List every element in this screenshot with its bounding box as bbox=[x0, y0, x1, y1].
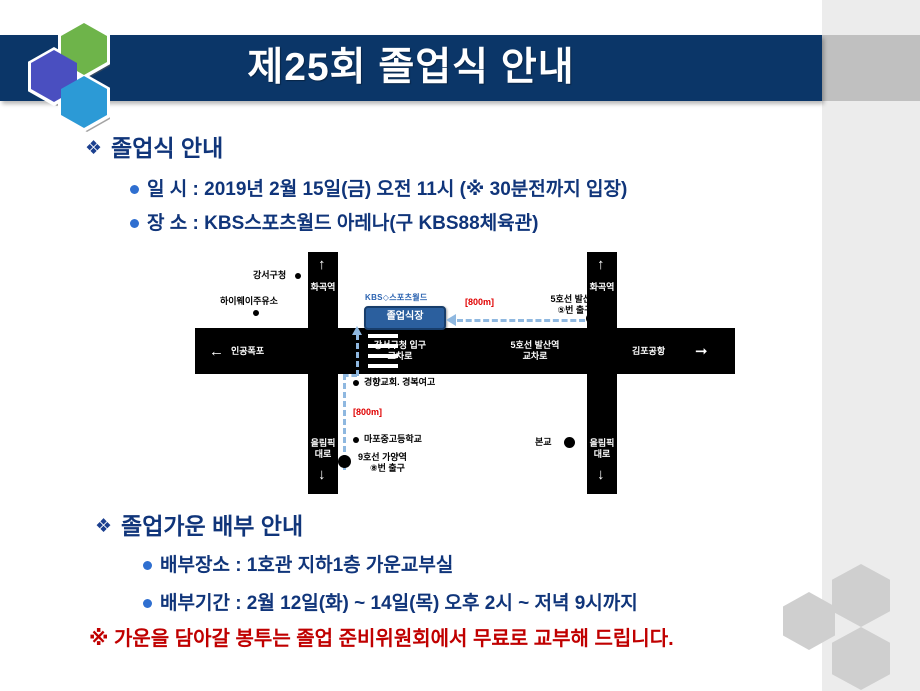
section2-note: ※ 가운을 담아갈 봉투는 졸업 준비위원회에서 무료로 교부해 드립니다. bbox=[89, 622, 674, 651]
arrow-left-road-icon: ← bbox=[209, 344, 224, 359]
section1-item-1-label: 장 소 : KBS스포츠월드 아레나(구 KBS88체육관) bbox=[147, 213, 538, 234]
path-crosswalk-vertical bbox=[356, 334, 359, 376]
path-gayang-horizontal bbox=[343, 374, 357, 377]
dot-bullet-icon bbox=[143, 561, 152, 570]
venue-caption: KBS◇스포츠월드 bbox=[365, 292, 428, 303]
poi-dot-highway-gas bbox=[253, 310, 259, 316]
poi-dot-balsan-station bbox=[586, 313, 597, 324]
path-arrow-left-icon bbox=[446, 314, 456, 326]
venue-box-graduation-hall: 졸업식장 bbox=[364, 306, 446, 330]
section2-item-0: 배부장소 : 1호관 지하1층 가운교부실 bbox=[143, 550, 453, 577]
section2-item-1: 배부기간 : 2월 12일(화) ~ 14일(목) 오후 2시 ~ 저녁 9시까… bbox=[143, 588, 638, 615]
poi-dot-mapo-school bbox=[353, 437, 359, 443]
right-decoration-panel-accent bbox=[822, 35, 920, 101]
section2-heading: ❖졸업가운 배부 안내 bbox=[95, 507, 303, 541]
poi-dot-gyeonghyang bbox=[353, 380, 359, 386]
arrow-up-left-road-icon: ↑ bbox=[318, 257, 326, 272]
poi-label-mapo-school: 마포중고등학교 bbox=[364, 434, 422, 445]
section1-heading-label: 졸업식 안내 bbox=[111, 135, 223, 161]
brand-logo bbox=[14, 22, 124, 112]
distance-label-balsan: [800m] bbox=[465, 297, 494, 307]
diamond-bullet-icon: ❖ bbox=[95, 515, 112, 538]
crosswalk-stripe bbox=[368, 354, 398, 358]
poi-label-highway-gas: 하이웨이주유소 bbox=[220, 296, 278, 307]
poi-dot-main-campus bbox=[564, 437, 575, 448]
dot-bullet-icon bbox=[130, 219, 139, 228]
crosswalk-stripe bbox=[368, 344, 398, 348]
section1-item-0-label: 일 시 : 2019년 2월 15일(금) 오전 11시 (※ 30분전까지 입… bbox=[147, 179, 627, 200]
road-label-olympic-left: 올림픽대로 bbox=[308, 438, 338, 460]
section1-heading: ❖졸업식 안내 bbox=[85, 129, 223, 163]
crosswalk-stripe bbox=[368, 364, 398, 368]
dot-bullet-icon bbox=[130, 185, 139, 194]
road-label-balsan-intersection: 5호선 발산역교차로 bbox=[485, 340, 585, 362]
poi-label-gyeonghyang: 경향교회. 경복여고 bbox=[364, 377, 435, 388]
crosswalk-stripe bbox=[368, 334, 398, 338]
path-arrow-up-icon bbox=[352, 326, 362, 335]
poi-label-gayang-station: 9호선 가양역⑧번 출구 bbox=[358, 452, 468, 474]
path-balsan-to-venue bbox=[457, 319, 585, 322]
poi-label-balsan-station: 5호선 발산역⑤번 출구 bbox=[520, 294, 630, 316]
section2-item-1-label: 배부기간 : 2월 12일(화) ~ 14일(목) 오후 2시 ~ 저녁 9시까… bbox=[160, 593, 638, 614]
poi-dot-gayang-station bbox=[338, 455, 351, 468]
arrow-up-right-road-icon: ↑ bbox=[597, 257, 605, 272]
poi-label-main-campus: 본교 bbox=[535, 437, 552, 448]
distance-label-gayang: [800m] bbox=[353, 407, 382, 417]
poi-label-gangseo-gucheong: 강서구청 bbox=[253, 270, 286, 281]
arrow-down-left-road-icon: ↓ bbox=[318, 467, 326, 482]
section1-item-1: 장 소 : KBS스포츠월드 아레나(구 KBS88체육관) bbox=[130, 208, 538, 235]
section2-heading-label: 졸업가운 배부 안내 bbox=[121, 513, 303, 539]
diamond-bullet-icon: ❖ bbox=[85, 137, 102, 160]
poi-dot-gangseo-gucheong bbox=[295, 273, 301, 279]
location-map: ↑ ↑ ↓ ↓ ← ➞ 화곡역 화곡역 올림픽대로 올림픽대로 인공폭포 강서구… bbox=[195, 252, 735, 494]
arrow-right-road-icon: ➞ bbox=[695, 344, 708, 359]
dot-bullet-icon bbox=[143, 599, 152, 608]
section1-item-0: 일 시 : 2019년 2월 15일(금) 오전 11시 (※ 30분전까지 입… bbox=[130, 174, 627, 201]
road-label-hwagok-right: 화곡역 bbox=[587, 282, 617, 293]
road-label-ingongpokpo: 인공폭포 bbox=[231, 346, 264, 357]
road-label-gimpo-airport: 김포공항 bbox=[632, 346, 665, 357]
road-label-gangseo-intersection: 강서구청 입구교차로 bbox=[350, 340, 450, 362]
section2-item-0-label: 배부장소 : 1호관 지하1층 가운교부실 bbox=[160, 555, 453, 576]
arrow-down-right-road-icon: ↓ bbox=[597, 467, 605, 482]
road-label-hwagok-left: 화곡역 bbox=[308, 282, 338, 293]
road-label-olympic-right: 올림픽대로 bbox=[587, 438, 617, 460]
